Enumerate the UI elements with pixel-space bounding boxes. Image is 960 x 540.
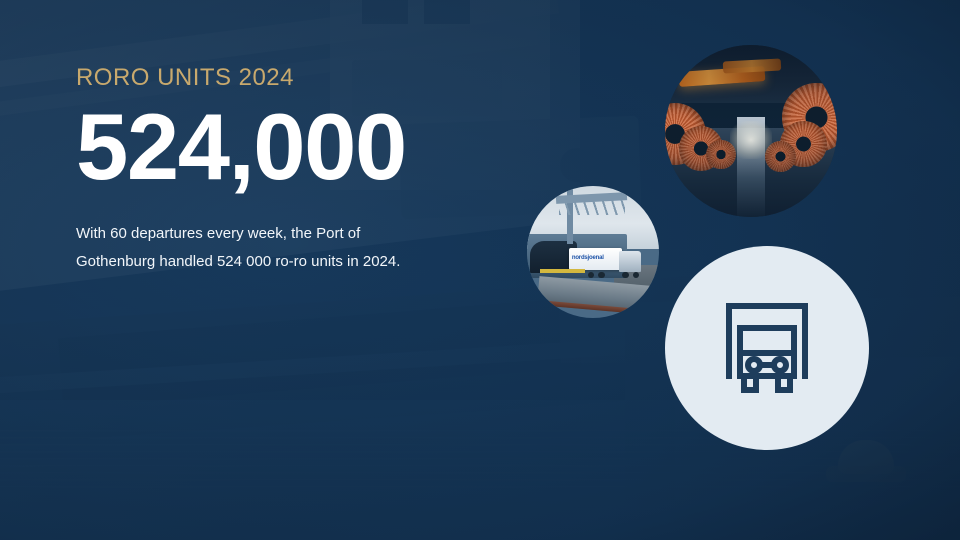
eyebrow-heading: RORO UNITS 2024 [76,66,506,90]
steel-coils-shading [665,45,837,217]
steel-coils-scene [665,45,837,217]
truck-front-icon [715,298,819,398]
headline-statistic: 524,000 [76,104,506,190]
truck-cab [619,251,640,272]
photo-circle-steel-coils [665,45,837,217]
ramp-deck-surface [536,300,649,315]
safety-railing [540,269,585,273]
truck-wheel [622,272,629,279]
text-column: RORO UNITS 2024 524,000 With 60 departur… [76,66,506,276]
trailer-livery-text: nordsjoenal [572,255,604,261]
body-paragraph: With 60 departures every week, the Port … [76,220,406,276]
photo-circle-ferry-loading: nordsjoenal [527,186,659,318]
icon-circle-truck [665,246,869,450]
ferry-loading-scene: nordsjoenal [527,186,659,318]
infographic-slide: RORO UNITS 2024 524,000 With 60 departur… [0,0,960,540]
